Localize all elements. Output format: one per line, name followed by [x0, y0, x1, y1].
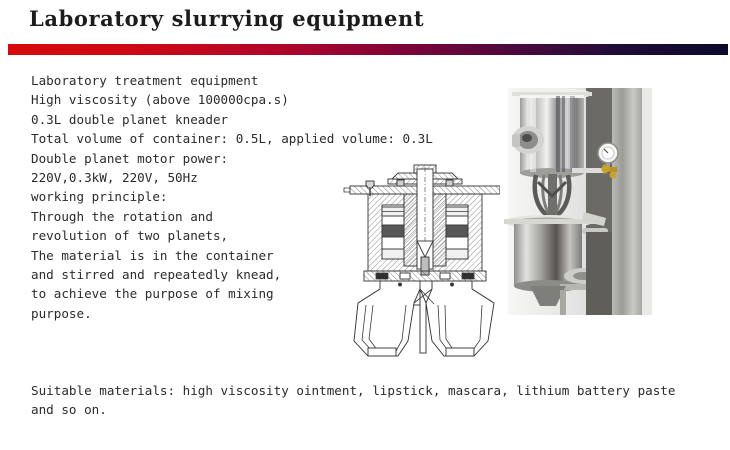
- product-photo: [500, 62, 652, 315]
- spec-line: High viscosity (above 100000cpa.s): [31, 90, 501, 109]
- spec-line: 0.3L double planet kneader: [31, 110, 501, 129]
- slide-page: Laboratory slurrying equipment Laborator…: [0, 0, 730, 450]
- spec-line: Laboratory treatment equipment: [31, 71, 501, 90]
- double-planet-kneader-cross-section-drawing: [342, 163, 510, 360]
- footer-line: and so on.: [31, 400, 721, 419]
- spec-line: Total volume of container: 0.5L, applied…: [31, 129, 501, 148]
- suitable-materials-text-block: Suitable materials: high viscosity ointm…: [31, 381, 721, 420]
- footer-line: Suitable materials: high viscosity ointm…: [31, 381, 721, 400]
- gradient-divider: [8, 44, 728, 55]
- page-title: Laboratory slurrying equipment: [29, 6, 424, 31]
